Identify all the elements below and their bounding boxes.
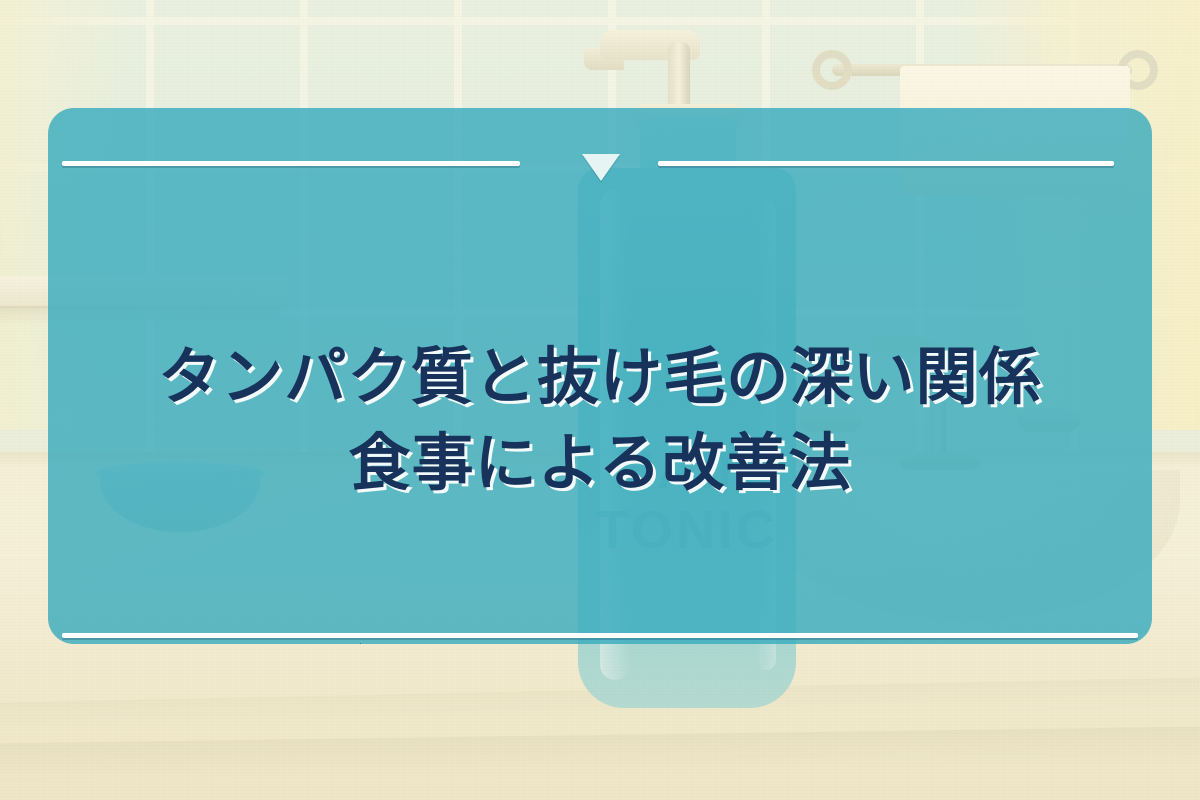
divider-segment-left [62, 161, 520, 166]
divider-top [48, 148, 1152, 178]
towel-bar-bracket-left [812, 50, 852, 90]
divider-segment-right [658, 161, 1114, 166]
divider-bottom [62, 633, 1138, 638]
page-title-line-2: 食事による改善法 [48, 420, 1152, 506]
page-title: タンパク質と抜け毛の深い関係 食事による改善法 [48, 334, 1152, 505]
content-card: タンパク質と抜け毛の深い関係 食事による改善法 AGAメディカルケアクリニック [48, 108, 1152, 644]
triangle-down-icon [582, 154, 620, 181]
page-title-line-1: タンパク質と抜け毛の深い関係 [48, 334, 1152, 420]
eyecatch-banner: HAIR TONIC タンパク質と抜け毛の深い関係 食事による改善法 [0, 0, 1200, 800]
